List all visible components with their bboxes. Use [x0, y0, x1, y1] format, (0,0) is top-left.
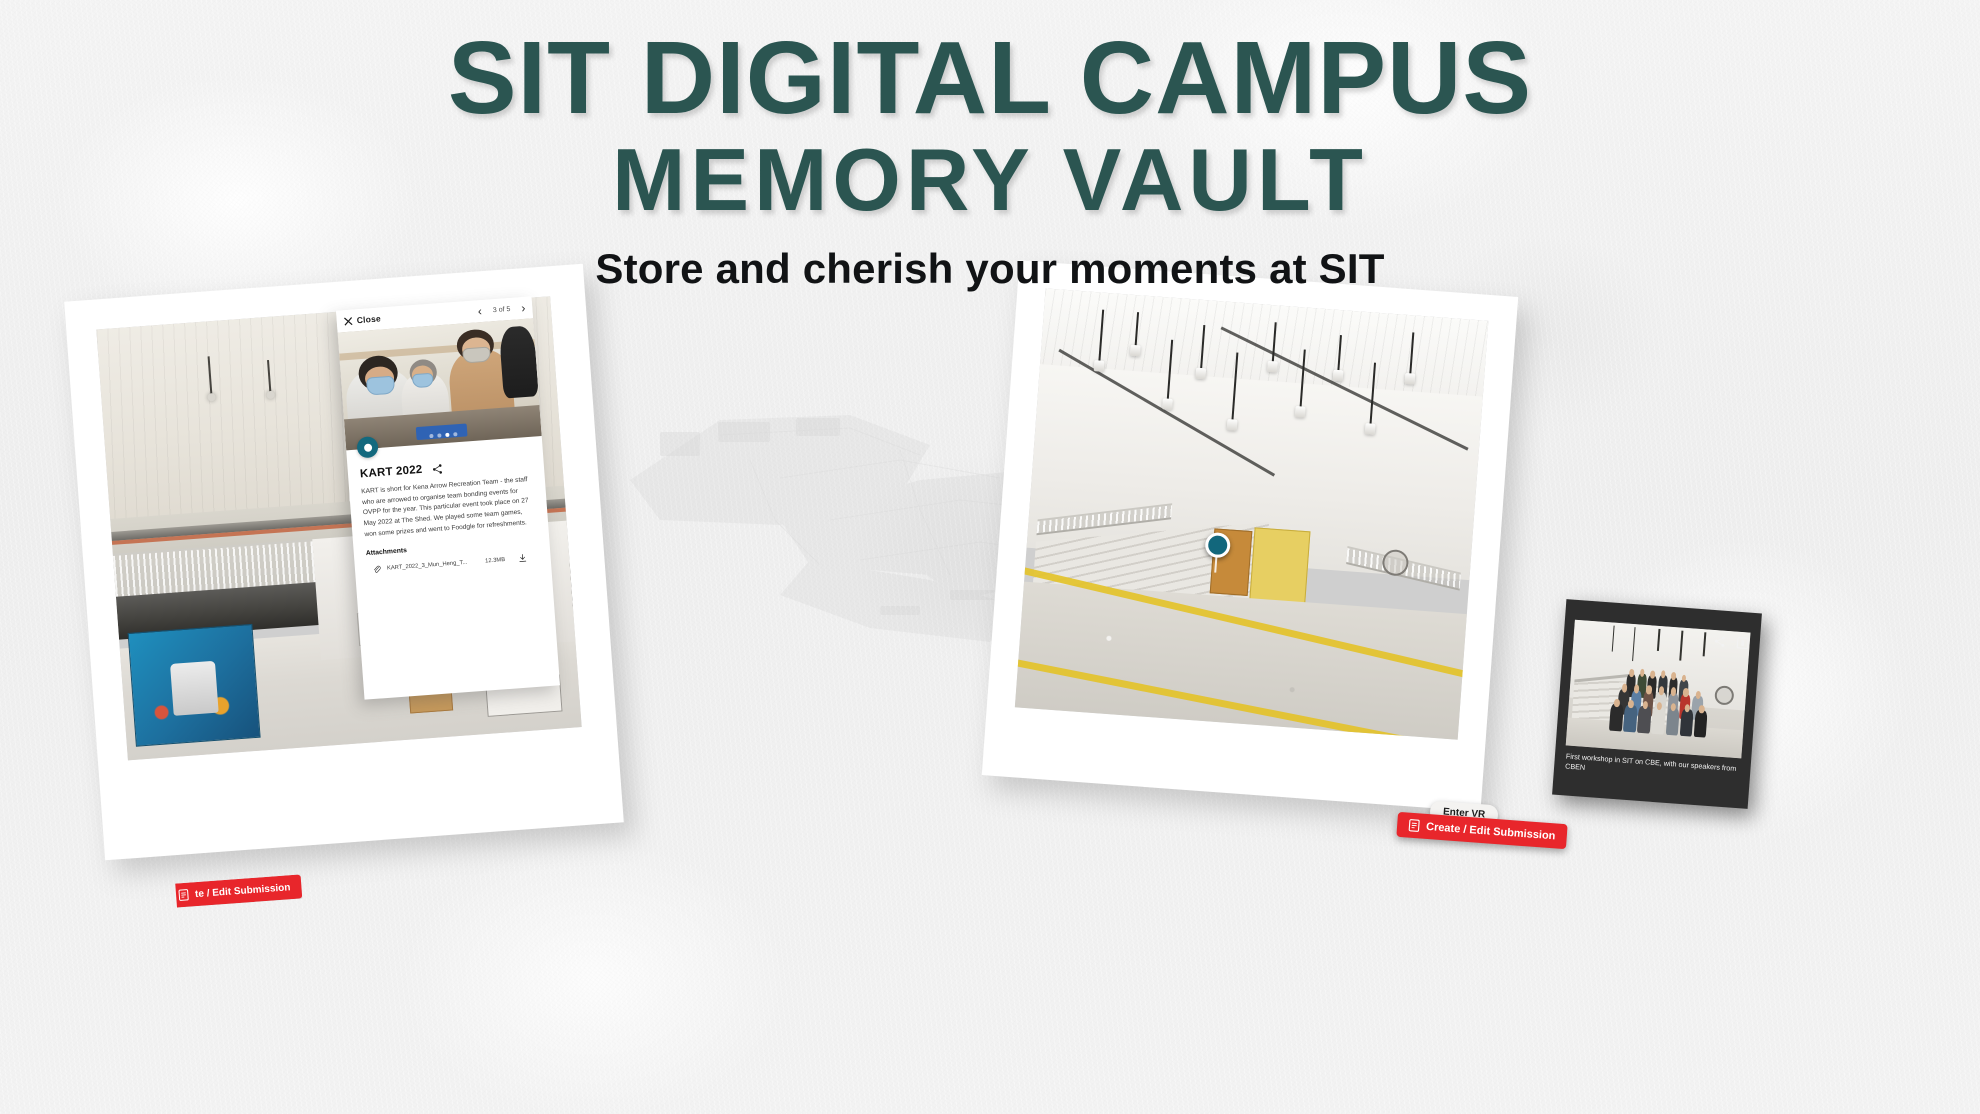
polaroid-frame-right — [982, 260, 1518, 811]
page-title-line1: SIT DIGITAL CAMPUS — [0, 28, 1980, 129]
photo-person — [1665, 707, 1679, 736]
astronaut-mural — [128, 624, 261, 747]
sit-donut-logo — [356, 436, 378, 458]
close-label: Close — [356, 313, 381, 325]
download-icon[interactable] — [519, 554, 528, 564]
carousel-dot[interactable] — [437, 433, 441, 437]
media-card-caption: First workshop in SIT on CBE, with our s… — [1565, 751, 1740, 785]
panel-counter: 3 of 5 — [493, 305, 511, 313]
document-icon — [178, 889, 190, 902]
create-edit-submission-button-left[interactable]: te / Edit Submission — [147, 874, 302, 909]
paperclip-icon — [373, 565, 382, 574]
chevron-left-icon[interactable]: ‹ — [477, 305, 482, 317]
expand-square-icon[interactable] — [1736, 637, 1749, 650]
photo-person-head — [1698, 705, 1704, 714]
submission-description: KART is short for Kena Arrow Recreation … — [361, 475, 536, 541]
page-title-line2: MEMORY VAULT — [0, 137, 1980, 223]
submission-title: KART 2022 — [360, 464, 423, 481]
carousel-dot[interactable] — [429, 434, 433, 438]
submission-detail-panel: Close ‹ 3 of 5 › — [336, 296, 560, 699]
attachment-name: KART_2022_3_Mun_Heng_T... — [387, 560, 468, 572]
photo-person-head — [1629, 669, 1634, 677]
panorama-viewer-right[interactable] — [1015, 288, 1489, 739]
create-edit-submission-button-right[interactable]: Create / Edit Submission — [1396, 812, 1567, 849]
document-icon — [1408, 819, 1421, 833]
photo-person-head — [1683, 688, 1689, 697]
photo-person-head — [1646, 686, 1652, 695]
share-icon[interactable] — [431, 463, 443, 475]
page-title-block: SIT DIGITAL CAMPUS MEMORY VAULT Store an… — [0, 28, 1980, 293]
yellow-panel — [1250, 527, 1310, 604]
photo-person — [1637, 705, 1651, 734]
photo-person — [1651, 706, 1665, 735]
create-edit-submission-label-left: te / Edit Submission — [195, 882, 291, 900]
memory-vault-hero: SIT DIGITAL CAMPUS MEMORY VAULT Store an… — [0, 0, 1980, 1114]
carousel-dot-active[interactable] — [445, 433, 449, 437]
close-x-icon — [343, 316, 353, 326]
carousel-dot[interactable] — [453, 432, 457, 436]
create-edit-submission-label-right: Create / Edit Submission — [1426, 820, 1556, 841]
media-card-toolbar — [1713, 635, 1749, 650]
media-detail-card: First workshop in SIT on CBE, with our s… — [1552, 599, 1762, 809]
photo-person-head — [1650, 671, 1655, 679]
scene-stairwell — [1015, 288, 1489, 739]
attachment-size: 12.3MB — [485, 557, 505, 564]
photo-person — [1623, 704, 1637, 733]
photo-person — [1693, 709, 1707, 738]
page-subtitle: Store and cherish your moments at SIT — [0, 245, 1980, 293]
panel-body: KART 2022 KART is short for Kena Arrow R… — [346, 436, 551, 575]
close-button[interactable]: Close — [343, 313, 381, 326]
photo-person — [1609, 703, 1623, 732]
panel-nav: ‹ 3 of 5 › — [477, 302, 525, 317]
attachment-row[interactable]: KART_2022_3_Mun_Heng_T... 12.3MB — [367, 553, 539, 575]
submission-photo[interactable] — [338, 318, 542, 450]
share-icon[interactable] — [1713, 635, 1726, 648]
photo-person — [1679, 708, 1693, 737]
chevron-right-icon[interactable]: › — [521, 302, 526, 314]
